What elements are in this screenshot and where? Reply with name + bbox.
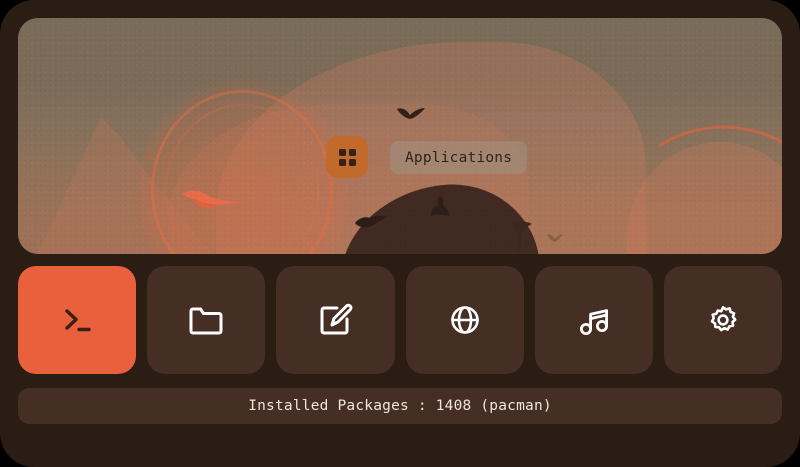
- status-bar: Installed Packages : 1408 (pacman): [18, 388, 782, 424]
- globe-icon: [443, 298, 487, 342]
- applications-tooltip-label: Applications: [405, 150, 512, 166]
- dock-item-terminal[interactable]: [18, 266, 136, 374]
- grid-2x2-icon: [339, 149, 356, 166]
- terminal-prompt-icon: [55, 298, 99, 342]
- dock-item-web-browser[interactable]: [406, 266, 524, 374]
- gear-icon: [701, 298, 745, 342]
- dock-item-music-player[interactable]: [535, 266, 653, 374]
- dock-item-settings[interactable]: [664, 266, 782, 374]
- wallpaper-preview[interactable]: Applications: [18, 18, 782, 254]
- dock-item-files[interactable]: [147, 266, 265, 374]
- folder-icon: [184, 298, 228, 342]
- pencil-square-icon: [313, 298, 357, 342]
- dock-item-text-editor[interactable]: [276, 266, 394, 374]
- music-note-icon: [572, 298, 616, 342]
- wallpaper-grain-overlay: [18, 18, 782, 254]
- applications-tooltip: Applications: [390, 141, 527, 174]
- dock: [18, 266, 782, 374]
- launcher-shell: Applications: [0, 0, 800, 467]
- installed-packages-text: Installed Packages : 1408 (pacman): [248, 398, 552, 414]
- applications-button[interactable]: [326, 136, 368, 178]
